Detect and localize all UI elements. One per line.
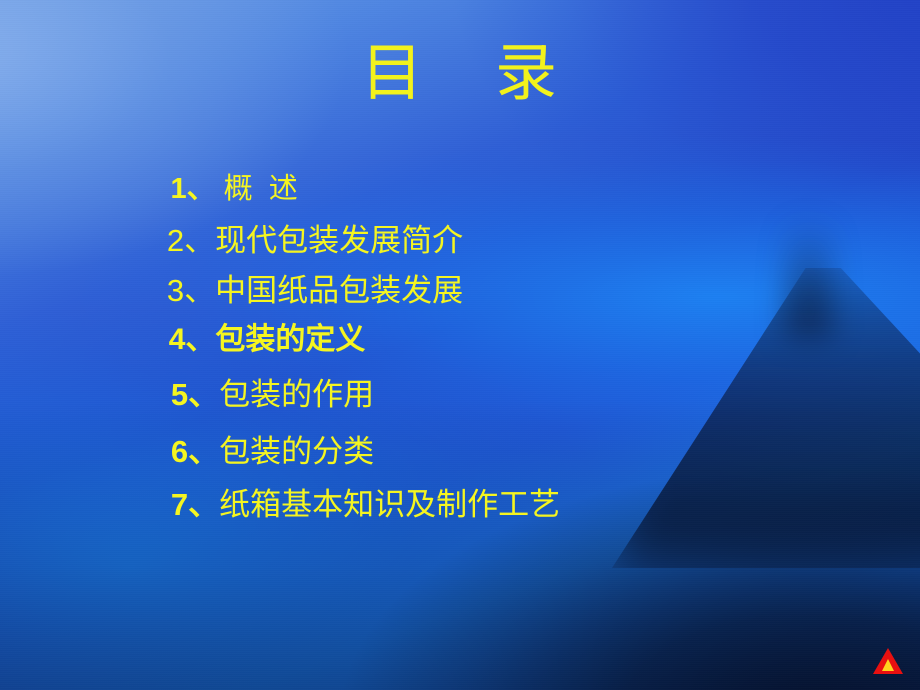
presentation-slide: 目 录 1、 概 述 2、现代包装发展简介 3、中国纸品包装发展 4、包装的定义… — [0, 0, 920, 690]
toc-item-7-number: 7、 — [171, 487, 219, 522]
slide-content: 目 录 1、 概 述 2、现代包装发展简介 3、中国纸品包装发展 4、包装的定义… — [0, 0, 920, 690]
toc-item-7[interactable]: 7、纸箱基本知识及制作工艺 — [102, 458, 560, 551]
triangle-icon — [872, 646, 904, 676]
page-title: 目 录 — [0, 42, 920, 107]
triangle-action-button[interactable] — [872, 646, 904, 676]
toc-item-7-label: 纸箱基本知识及制作工艺 — [219, 487, 560, 522]
